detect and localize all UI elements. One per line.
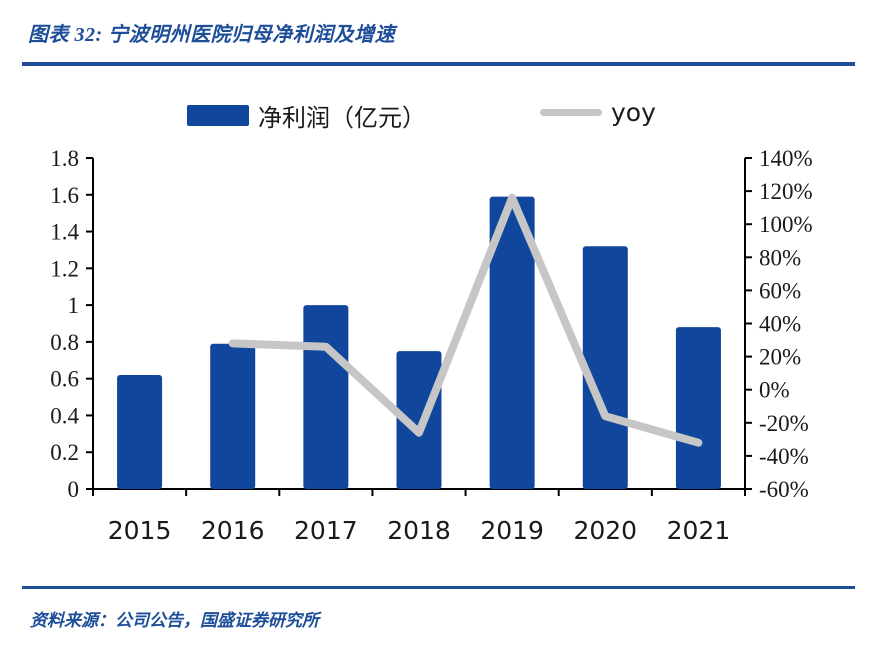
right-axis-tick-label: 40% — [759, 312, 801, 337]
x-axis-label-2016: 2016 — [201, 516, 265, 545]
right-axis-tick-label: -60% — [759, 477, 809, 502]
left-axis-tick-label: 0.8 — [50, 330, 79, 355]
yoy-line — [233, 198, 699, 443]
right-axis-tick-label: 80% — [759, 245, 801, 270]
footer-divider — [22, 586, 855, 589]
left-axis-tick-label: 0 — [68, 477, 80, 502]
right-axis-tick-label: 0% — [759, 378, 790, 403]
left-axis-tick-label: 0.4 — [50, 403, 79, 428]
source-note: 资料来源：公司公告，国盛证券研究所 — [30, 606, 319, 631]
header-divider — [22, 62, 855, 66]
legend-item-net-profit: 净利润（亿元） — [187, 98, 426, 133]
left-axis-tick-label: 1.4 — [50, 220, 79, 245]
legend-item-yoy: yoy — [540, 98, 656, 127]
right-axis-tick-label: -40% — [759, 444, 809, 469]
right-axis-tick-label: 120% — [759, 179, 813, 204]
page-title: 图表 32: 宁波明州医院归母净利润及增速 — [28, 18, 395, 47]
legend-swatch-bar-icon — [187, 105, 249, 126]
legend-label-net-profit: 净利润（亿元） — [258, 98, 426, 133]
legend-swatch-line-icon — [540, 109, 602, 116]
x-axis-label-2015: 2015 — [108, 516, 172, 545]
x-axis-label-2019: 2019 — [480, 516, 544, 545]
left-axis-tick-label: 1 — [68, 293, 80, 318]
figure-header: 图表 32: 宁波明州医院归母净利润及增速 — [0, 0, 877, 70]
bar-2015 — [117, 375, 162, 489]
chart-legend: 净利润（亿元） yoy — [0, 98, 877, 138]
x-axis-label-2020: 2020 — [573, 516, 637, 545]
x-axis-label-2017: 2017 — [294, 516, 358, 545]
bar-2020 — [583, 246, 628, 489]
right-axis-tick-label: 140% — [759, 146, 813, 171]
right-axis-tick-label: 60% — [759, 278, 801, 303]
chart-plot: 00.20.40.60.811.21.41.61.8-60%-40%-20%0%… — [0, 70, 877, 580]
left-axis-tick-label: 1.8 — [50, 146, 79, 171]
bar-2017 — [303, 305, 348, 489]
chart-container: 净利润（亿元） yoy 00.20.40.60.811.21.41.61.8-6… — [0, 70, 877, 580]
bar-2016 — [210, 344, 255, 489]
legend-label-yoy: yoy — [611, 98, 656, 127]
left-axis-tick-label: 1.6 — [50, 183, 79, 208]
x-axis-label-2021: 2021 — [667, 516, 731, 545]
right-axis-tick-label: 20% — [759, 345, 801, 370]
bar-2021 — [676, 327, 721, 489]
right-axis-tick-label: -20% — [759, 411, 809, 436]
left-axis-tick-label: 0.2 — [50, 440, 79, 465]
left-axis-tick-label: 0.6 — [50, 367, 79, 392]
right-axis-tick-label: 100% — [759, 212, 813, 237]
left-axis-tick-label: 1.2 — [50, 256, 79, 281]
x-axis-label-2018: 2018 — [387, 516, 451, 545]
